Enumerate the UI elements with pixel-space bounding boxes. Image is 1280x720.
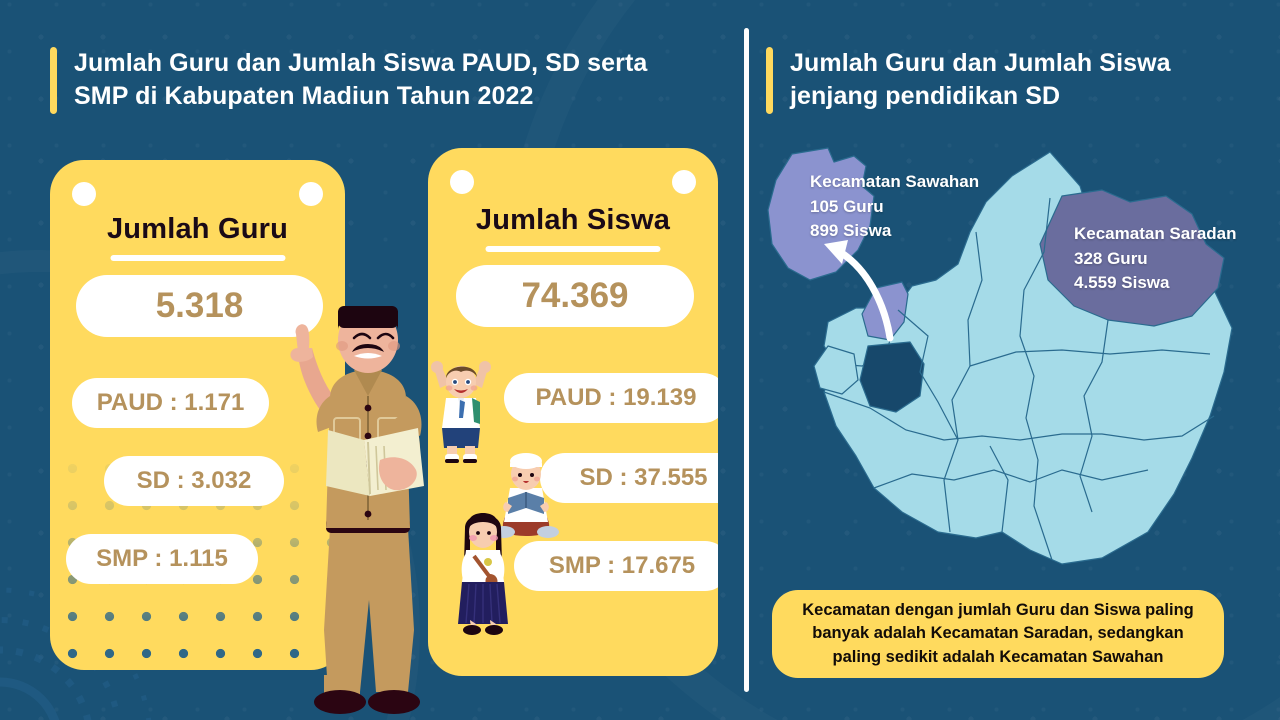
card-punch-hole-left [450, 170, 474, 194]
card-guru-total-value: 5.318 [76, 275, 323, 337]
right-panel-title: Jumlah Guru dan Jumlah Siswa jenjang pen… [766, 47, 1236, 114]
title-accent-bar [50, 47, 57, 114]
stat-card-siswa: Jumlah Siswa 74.369 PAUD : 19.139 SD : 3… [428, 148, 718, 676]
stat-card-guru: Jumlah Guru 5.318 PAUD : 1.171 SD : 3.03… [50, 160, 345, 670]
card-guru-heading: Jumlah Guru [50, 213, 345, 246]
card-punch-hole-right [672, 170, 696, 194]
card-punch-hole-left [72, 182, 96, 206]
card-siswa-heading: Jumlah Siswa [428, 204, 718, 237]
vertical-divider [744, 28, 749, 692]
card-heading-rule [486, 246, 661, 252]
card-siswa-item-paud: PAUD : 19.139 [504, 373, 718, 423]
card-heading-rule [110, 255, 285, 261]
left-title-text: Jumlah Guru dan Jumlah Siswa PAUD, SD se… [74, 47, 647, 114]
right-title-text: Jumlah Guru dan Jumlah Siswa jenjang pen… [790, 47, 1171, 114]
card-siswa-item-sd: SD : 37.555 [540, 453, 718, 503]
left-panel-title: Jumlah Guru dan Jumlah Siswa PAUD, SD se… [50, 47, 710, 114]
card-guru-item-paud: PAUD : 1.171 [72, 378, 269, 428]
map-label-sawahan: Kecamatan Sawahan 105 Guru 899 Siswa [810, 170, 979, 244]
card-guru-item-smp: SMP : 1.115 [66, 534, 258, 584]
card-siswa-item-smp: SMP : 17.675 [514, 541, 718, 591]
card-siswa-total-value: 74.369 [456, 265, 694, 327]
card-guru-item-sd: SD : 3.032 [104, 456, 284, 506]
map-caption-box: Kecamatan dengan jumlah Guru dan Siswa p… [772, 590, 1224, 678]
title-accent-bar [766, 47, 773, 114]
card-punch-hole-right [299, 182, 323, 206]
map-label-saradan: Kecamatan Saradan 328 Guru 4.559 Siswa [1074, 222, 1237, 296]
infographic-canvas: Jumlah Guru dan Jumlah Siswa PAUD, SD se… [0, 0, 1280, 720]
